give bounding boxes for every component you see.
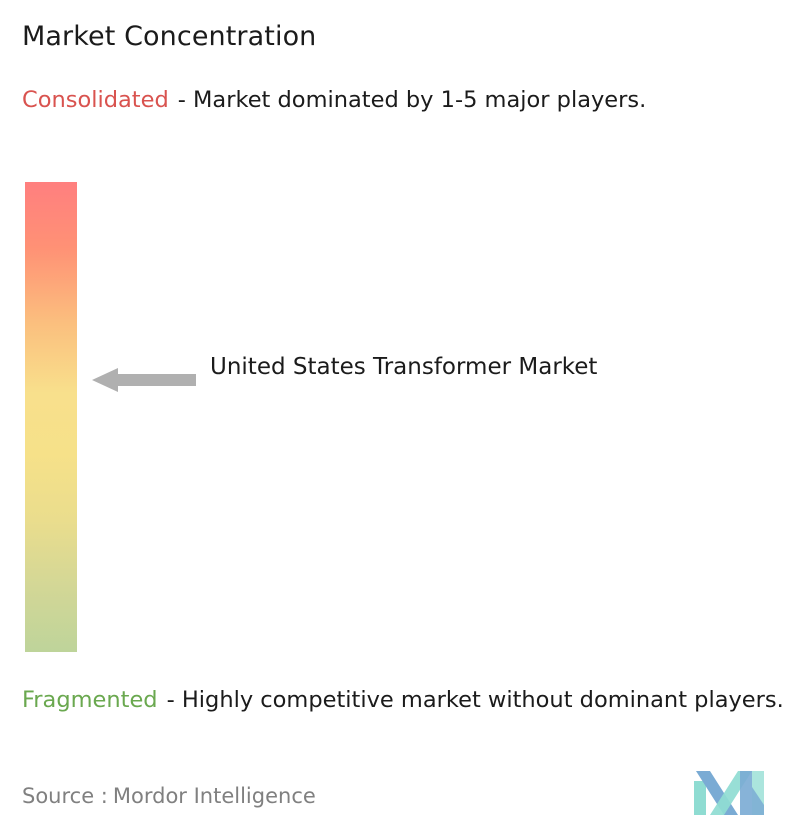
legend-consolidated: Consolidated- Market dominated by 1-5 ma… bbox=[22, 85, 774, 116]
legend-fragmented-description: - Highly competitive market without domi… bbox=[167, 687, 784, 713]
legend-consolidated-description: - Market dominated by 1-5 major players. bbox=[178, 87, 647, 113]
source-attribution: Source :Mordor Intelligence bbox=[22, 782, 316, 810]
legend-fragmented-keyword: Fragmented bbox=[22, 687, 158, 713]
market-marker-label: United States Transformer Market bbox=[210, 349, 660, 385]
legend-fragmented: Fragmented- Highly competitive market wi… bbox=[22, 685, 784, 716]
concentration-gradient-bar bbox=[25, 182, 77, 652]
source-label: Source : bbox=[22, 784, 108, 808]
legend-consolidated-keyword: Consolidated bbox=[22, 87, 169, 113]
page-title: Market Concentration bbox=[22, 20, 316, 54]
market-concentration-chart: Market Concentration Consolidated- Marke… bbox=[0, 0, 796, 834]
arrow-left-icon bbox=[92, 368, 196, 392]
source-name: Mordor Intelligence bbox=[113, 784, 316, 808]
mordor-intelligence-logo-icon bbox=[694, 767, 774, 815]
